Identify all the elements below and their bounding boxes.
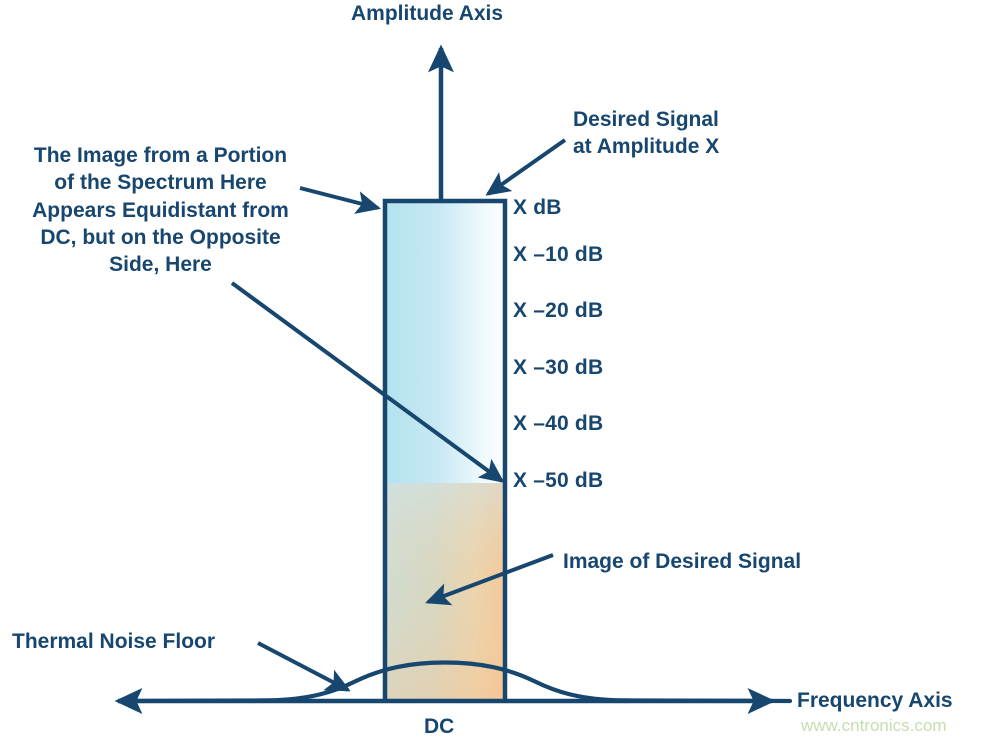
db-tick-label-0: X dB: [513, 196, 562, 221]
dc-origin-label: DC: [424, 715, 454, 740]
amplitude-axis-label: Amplitude Axis: [351, 2, 503, 27]
signal-band: [385, 201, 505, 700]
annotation-desired-signal: Desired Signal at Amplitude X: [573, 106, 788, 161]
leader-thermal-noise-floor: [258, 643, 348, 690]
site-watermark: www.cntronics.com: [801, 716, 946, 736]
frequency-axis-label: Frequency Axis: [797, 689, 953, 714]
db-tick-label-30: X –30 dB: [513, 356, 603, 381]
leader-desired-signal: [488, 140, 565, 194]
annotation-image-of-desired-signal: Image of Desired Signal: [563, 548, 863, 575]
diagram-canvas: Amplitude Axis Frequency Axis DC X dB X …: [0, 0, 983, 745]
db-tick-label-20: X –20 dB: [513, 299, 603, 324]
db-tick-label-50: X –50 dB: [513, 469, 603, 494]
db-tick-label-40: X –40 dB: [513, 412, 603, 437]
annotation-thermal-noise-floor: Thermal Noise Floor: [12, 628, 262, 655]
db-tick-label-10: X –10 dB: [513, 243, 603, 268]
annotation-image-portion: The Image from a Portion of the Spectrum…: [8, 142, 313, 278]
